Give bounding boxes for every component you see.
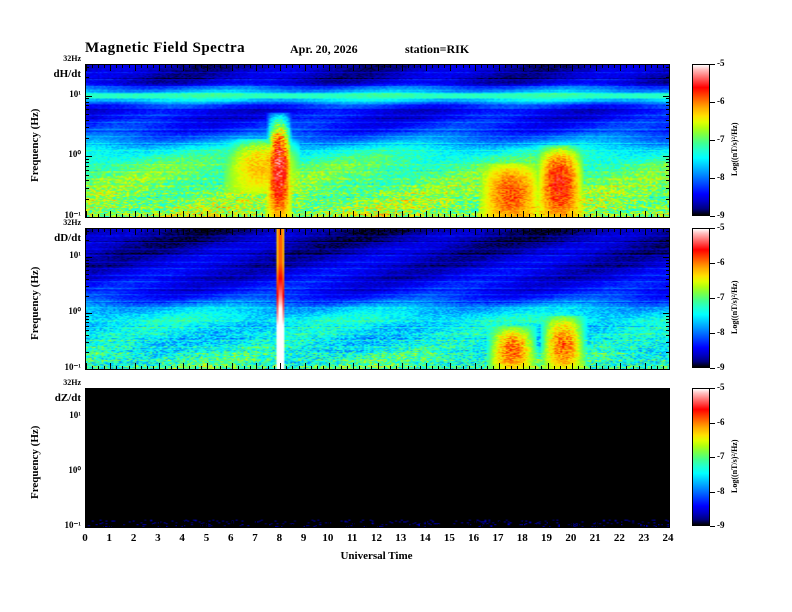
spectrogram-dZdt	[85, 388, 670, 528]
x-tick-minor	[541, 366, 542, 369]
y-axis-title-dHdt: Frequency (Hz)	[29, 109, 41, 182]
x-tick-minor	[365, 214, 366, 217]
x-tick-minor	[663, 229, 664, 232]
x-tick-major	[475, 363, 476, 369]
x-tick-minor	[268, 366, 269, 369]
x-tick-minor	[584, 65, 585, 68]
x-tick-major	[280, 521, 281, 527]
x-tick-minor	[244, 524, 245, 527]
y-tick-minor	[86, 330, 89, 331]
x-tick-minor	[554, 366, 555, 369]
x-tick-minor	[438, 65, 439, 68]
x-tick-minor	[657, 214, 658, 217]
y-tick-minor	[86, 120, 89, 121]
x-tick-minor	[268, 214, 269, 217]
x-tick-minor	[584, 389, 585, 392]
x-tick-minor	[311, 366, 312, 369]
x-tick-minor	[359, 524, 360, 527]
x-tick-minor	[487, 229, 488, 232]
x-tick-major	[450, 229, 451, 235]
colorbar-tick	[710, 140, 715, 141]
y-tick-minor	[86, 159, 89, 160]
x-tick-minor	[626, 65, 627, 68]
y-tick-minor	[86, 429, 89, 430]
y-tick-minor	[666, 342, 669, 343]
x-tick-minor	[98, 229, 99, 232]
x-tick-major	[159, 389, 160, 395]
x-tick-minor	[493, 366, 494, 369]
x-tick-minor	[226, 366, 227, 369]
colorbar-dHdt: -5-6-7-8-9Log((nT/s)²/Hz)	[692, 64, 732, 216]
x-tick-major	[620, 363, 621, 369]
colorbar-tick-label: -9	[717, 362, 725, 372]
x-tick-major	[596, 211, 597, 217]
x-tick-minor	[432, 524, 433, 527]
x-tick-major	[280, 211, 281, 217]
y-tick-minor	[666, 162, 669, 163]
x-tick-minor	[341, 366, 342, 369]
x-tick-minor	[511, 389, 512, 392]
x-tick-minor	[311, 65, 312, 68]
x-tick-major	[402, 521, 403, 527]
x-tick-minor	[560, 229, 561, 232]
x-tick-minor	[432, 229, 433, 232]
x-tick-minor	[626, 214, 627, 217]
x-tick-major	[548, 211, 549, 217]
x-tick-major	[669, 521, 670, 527]
x-tick-minor	[165, 229, 166, 232]
x-tick-minor	[456, 366, 457, 369]
y-tick-minor	[86, 419, 89, 420]
x-tick-minor	[244, 65, 245, 68]
x-tick-minor	[359, 65, 360, 68]
colorbar-tick-label: -6	[717, 96, 725, 106]
x-tick-major	[135, 389, 136, 395]
x-tick-minor	[614, 389, 615, 392]
x-tick-minor	[444, 214, 445, 217]
x-tick-minor	[408, 65, 409, 68]
x-tick-minor	[317, 65, 318, 68]
x-tick-minor	[116, 214, 117, 217]
x-tick-minor	[396, 524, 397, 527]
x-tick-minor	[493, 65, 494, 68]
x-tick-minor	[463, 524, 464, 527]
x-tick-minor	[614, 214, 615, 217]
x-tick-major	[280, 363, 281, 369]
x-tick-minor	[560, 389, 561, 392]
x-tick-minor	[639, 524, 640, 527]
x-tick-minor	[226, 389, 227, 392]
x-tick-major	[232, 521, 233, 527]
y-tick-minor	[666, 120, 669, 121]
x-tick-minor	[469, 229, 470, 232]
x-tick-minor	[414, 214, 415, 217]
x-tick-minor	[371, 366, 372, 369]
y-tick-minor	[86, 180, 89, 181]
x-tick-minor	[359, 214, 360, 217]
x-tick-minor	[292, 214, 293, 217]
x-tick-minor	[584, 214, 585, 217]
x-tick-minor	[554, 229, 555, 232]
x-tick-minor	[390, 214, 391, 217]
figure-station: station=RIK	[405, 42, 469, 57]
x-tick-major	[450, 521, 451, 527]
figure-title-row: Magnetic Field Spectra Apr. 20, 2026 sta…	[85, 40, 668, 58]
x-tick-minor	[286, 389, 287, 392]
x-tick-major	[402, 363, 403, 369]
x-tick-minor	[299, 229, 300, 232]
x-tick-major	[548, 521, 549, 527]
x-tick-major	[232, 389, 233, 395]
x-tick-minor	[104, 214, 105, 217]
colorbar-tick	[710, 333, 715, 334]
colorbar-tick	[710, 263, 715, 264]
x-tick-minor	[250, 65, 251, 68]
x-tick-minor	[323, 214, 324, 217]
x-tick-minor	[432, 366, 433, 369]
x-tick-minor	[165, 389, 166, 392]
y-tick-minor	[666, 429, 669, 430]
spectrogram-image-dDdt	[86, 229, 669, 369]
y-tick-minor	[666, 170, 669, 171]
x-tick-minor	[384, 214, 385, 217]
x-tick-minor	[359, 389, 360, 392]
x-tick-minor	[317, 214, 318, 217]
x-tick-minor	[608, 389, 609, 392]
y-tick-major	[663, 313, 669, 314]
x-tick-minor	[481, 229, 482, 232]
x-tick-minor	[274, 214, 275, 217]
y-tick-major	[86, 96, 92, 97]
x-tick-minor	[335, 65, 336, 68]
x-tick-major	[159, 211, 160, 217]
x-tick-minor	[535, 214, 536, 217]
x-tick-minor	[311, 229, 312, 232]
x-tick-minor	[104, 229, 105, 232]
x-tick-minor	[141, 229, 142, 232]
x-tick-major	[232, 229, 233, 235]
x-tick-minor	[286, 524, 287, 527]
x-tick-minor	[578, 366, 579, 369]
x-tick-minor	[177, 214, 178, 217]
x-tick-minor	[420, 389, 421, 392]
x-tick-minor	[463, 389, 464, 392]
x-tick-minor	[292, 389, 293, 392]
y-tick-minor	[86, 455, 89, 456]
y-tick-minor	[666, 455, 669, 456]
x-tick-major	[86, 229, 87, 235]
x-tick-major	[426, 229, 427, 235]
y-tick-major	[86, 217, 92, 218]
y-tick-minor	[666, 501, 669, 502]
y-tick-minor	[666, 270, 669, 271]
x-tick-major	[353, 211, 354, 217]
colorbar-tick-label: -6	[717, 417, 725, 427]
colorbar-dZdt: -5-6-7-8-9Log((nT/s)²/Hz)	[692, 388, 732, 526]
x-tick-minor	[463, 65, 464, 68]
colorbar-gradient-dZdt	[692, 388, 710, 526]
x-tick-minor	[541, 65, 542, 68]
x-tick-minor	[165, 524, 166, 527]
x-tick-minor	[566, 214, 567, 217]
x-tick-major	[353, 363, 354, 369]
x-tick-major	[207, 229, 208, 235]
x-tick-major	[135, 211, 136, 217]
colorbar-tick	[710, 423, 715, 424]
x-tick-minor	[195, 65, 196, 68]
x-tick-minor	[590, 214, 591, 217]
x-tick-minor	[365, 229, 366, 232]
x-tick-minor	[560, 524, 561, 527]
spectrogram-dHdt	[85, 64, 670, 218]
x-tick-minor	[414, 65, 415, 68]
x-tick-minor	[578, 389, 579, 392]
x-tick-major	[426, 65, 427, 71]
x-tick-minor	[517, 229, 518, 232]
x-tick-minor	[201, 524, 202, 527]
x-tick-minor	[244, 389, 245, 392]
x-tick-minor	[663, 214, 664, 217]
x-tick-minor	[602, 229, 603, 232]
x-tick-minor	[657, 366, 658, 369]
x-tick-minor	[365, 389, 366, 392]
x-tick-minor	[165, 366, 166, 369]
x-tick-major	[183, 229, 184, 235]
x-tick-major	[135, 521, 136, 527]
x-tick-minor	[584, 366, 585, 369]
x-tick-minor	[335, 214, 336, 217]
y-tick-minor	[86, 501, 89, 502]
x-tick-major	[329, 65, 330, 71]
x-tick-minor	[456, 389, 457, 392]
x-tick-major	[620, 389, 621, 395]
x-tick-minor	[195, 389, 196, 392]
x-tick-major	[183, 211, 184, 217]
y-tick-minor	[666, 138, 669, 139]
x-tick-major	[378, 65, 379, 71]
x-tick-minor	[92, 65, 93, 68]
y-axis-title-dZdt: Frequency (Hz)	[29, 426, 41, 499]
x-tick-minor	[98, 366, 99, 369]
x-tick-minor	[487, 524, 488, 527]
x-tick-minor	[92, 524, 93, 527]
x-tick-minor	[420, 366, 421, 369]
x-tick-minor	[414, 524, 415, 527]
x-tick-minor	[511, 65, 512, 68]
colorbar-title-dZdt: Log((nT/s)²/Hz)	[730, 439, 739, 493]
x-tick-minor	[651, 65, 652, 68]
x-tick-minor	[529, 389, 530, 392]
y-tick-minor	[86, 494, 89, 495]
x-tick-minor	[456, 65, 457, 68]
x-tick-minor	[384, 389, 385, 392]
x-tick-minor	[590, 389, 591, 392]
x-tick-major	[499, 229, 500, 235]
x-tick-minor	[651, 229, 652, 232]
x-tick-minor	[444, 65, 445, 68]
x-tick-minor	[122, 229, 123, 232]
x-tick-major	[596, 363, 597, 369]
x-tick-minor	[541, 389, 542, 392]
x-tick-minor	[396, 389, 397, 392]
x-tick-minor	[238, 229, 239, 232]
y-tick-minor	[86, 484, 89, 485]
x-tick-minor	[481, 366, 482, 369]
x-tick-minor	[238, 65, 239, 68]
x-tick-major	[159, 229, 160, 235]
x-tick-minor	[511, 366, 512, 369]
y-tick-minor	[86, 166, 89, 167]
x-tick-minor	[274, 389, 275, 392]
y-tick-minor	[666, 446, 669, 447]
x-tick-minor	[201, 214, 202, 217]
x-tick-minor	[444, 389, 445, 392]
x-tick-minor	[122, 65, 123, 68]
x-tick-minor	[590, 366, 591, 369]
y-tick-minor	[86, 425, 89, 426]
x-tick-minor	[420, 524, 421, 527]
x-tick-minor	[626, 524, 627, 527]
x-tick-minor	[535, 389, 536, 392]
x-tick-minor	[153, 389, 154, 392]
x-tick-minor	[529, 65, 530, 68]
y-tick-minor	[666, 510, 669, 511]
x-tick-minor	[311, 389, 312, 392]
x-tick-minor	[226, 65, 227, 68]
x-tick-minor	[657, 229, 658, 232]
colorbar-title-dHdt: Log((nT/s)²/Hz)	[730, 122, 739, 176]
x-tick-major	[135, 363, 136, 369]
x-tick-minor	[633, 389, 634, 392]
x-tick-minor	[371, 389, 372, 392]
x-tick-minor	[566, 229, 567, 232]
x-tick-minor	[214, 524, 215, 527]
x-tick-minor	[657, 65, 658, 68]
x-tick-minor	[505, 366, 506, 369]
x-tick-minor	[347, 389, 348, 392]
x-tick-minor	[535, 524, 536, 527]
x-tick-minor	[505, 229, 506, 232]
x-tick-minor	[481, 214, 482, 217]
x-tick-major	[499, 521, 500, 527]
y-tick-minor	[666, 188, 669, 189]
x-tick-minor	[226, 524, 227, 527]
y-tick-minor	[666, 105, 669, 106]
x-tick-minor	[554, 524, 555, 527]
x-tick-minor	[396, 366, 397, 369]
x-tick-minor	[274, 229, 275, 232]
x-tick-major	[548, 229, 549, 235]
x-tick-minor	[396, 214, 397, 217]
y-tick-minor	[666, 484, 669, 485]
y-tick-major	[663, 369, 669, 370]
x-tick-minor	[286, 65, 287, 68]
x-tick-minor	[505, 65, 506, 68]
x-tick-major	[572, 363, 573, 369]
x-tick-minor	[438, 214, 439, 217]
x-tick-major	[523, 65, 524, 71]
x-tick-minor	[420, 65, 421, 68]
page-title: Magnetic Field Spectra	[85, 40, 245, 57]
x-tick-major	[183, 65, 184, 71]
component-label-dZdt: dZ/dt	[27, 392, 81, 404]
colorbar-tick-label: -7	[717, 134, 725, 144]
x-tick-major	[645, 363, 646, 369]
x-tick-minor	[371, 524, 372, 527]
x-tick-minor	[493, 229, 494, 232]
x-tick-major	[548, 363, 549, 369]
y-tick-minor	[666, 114, 669, 115]
x-tick-major	[329, 521, 330, 527]
x-tick-minor	[487, 389, 488, 392]
y-tick-minor	[666, 480, 669, 481]
y-tick-label: 10¹	[49, 250, 81, 260]
y-tick-minor	[666, 180, 669, 181]
x-tick-minor	[390, 366, 391, 369]
x-tick-major	[620, 521, 621, 527]
x-tick-major	[280, 229, 281, 235]
x-tick-minor	[663, 366, 664, 369]
x-tick-minor	[220, 229, 221, 232]
x-tick-major	[450, 363, 451, 369]
x-tick-major	[256, 389, 257, 395]
x-tick-minor	[214, 229, 215, 232]
x-tick-minor	[493, 524, 494, 527]
y-tick-minor	[666, 425, 669, 426]
x-tick-minor	[590, 65, 591, 68]
x-tick-minor	[365, 65, 366, 68]
x-tick-minor	[286, 214, 287, 217]
colorbar-tick	[710, 526, 715, 527]
x-tick-minor	[511, 214, 512, 217]
x-tick-major	[475, 211, 476, 217]
x-tick-minor	[541, 214, 542, 217]
x-tick-major	[499, 65, 500, 71]
x-tick-minor	[390, 524, 391, 527]
y-tick-major	[86, 257, 92, 258]
x-tick-minor	[98, 214, 99, 217]
x-tick-major	[426, 363, 427, 369]
x-tick-major	[426, 211, 427, 217]
y-tick-major	[663, 217, 669, 218]
y-tick-minor	[666, 488, 669, 489]
x-tick-minor	[250, 524, 251, 527]
x-tick-major	[207, 521, 208, 527]
x-tick-minor	[560, 65, 561, 68]
x-tick-major	[402, 211, 403, 217]
y-tick-minor	[666, 199, 669, 200]
x-tick-major	[207, 389, 208, 395]
x-axis-title: Universal Time	[85, 550, 668, 562]
x-tick-minor	[566, 366, 567, 369]
x-tick-minor	[92, 389, 93, 392]
x-tick-minor	[189, 65, 190, 68]
colorbar-tick	[710, 178, 715, 179]
y-tick-major	[86, 313, 92, 314]
x-tick-minor	[505, 524, 506, 527]
x-tick-minor	[177, 524, 178, 527]
y-tick-label: 10⁻¹	[49, 362, 81, 373]
x-tick-minor	[262, 65, 263, 68]
x-tick-minor	[226, 214, 227, 217]
x-tick-minor	[335, 366, 336, 369]
y-tick-major	[663, 417, 669, 418]
x-tick-minor	[626, 366, 627, 369]
x-tick-major	[207, 211, 208, 217]
x-tick-minor	[292, 524, 293, 527]
x-tick-minor	[566, 389, 567, 392]
x-tick-major	[450, 211, 451, 217]
